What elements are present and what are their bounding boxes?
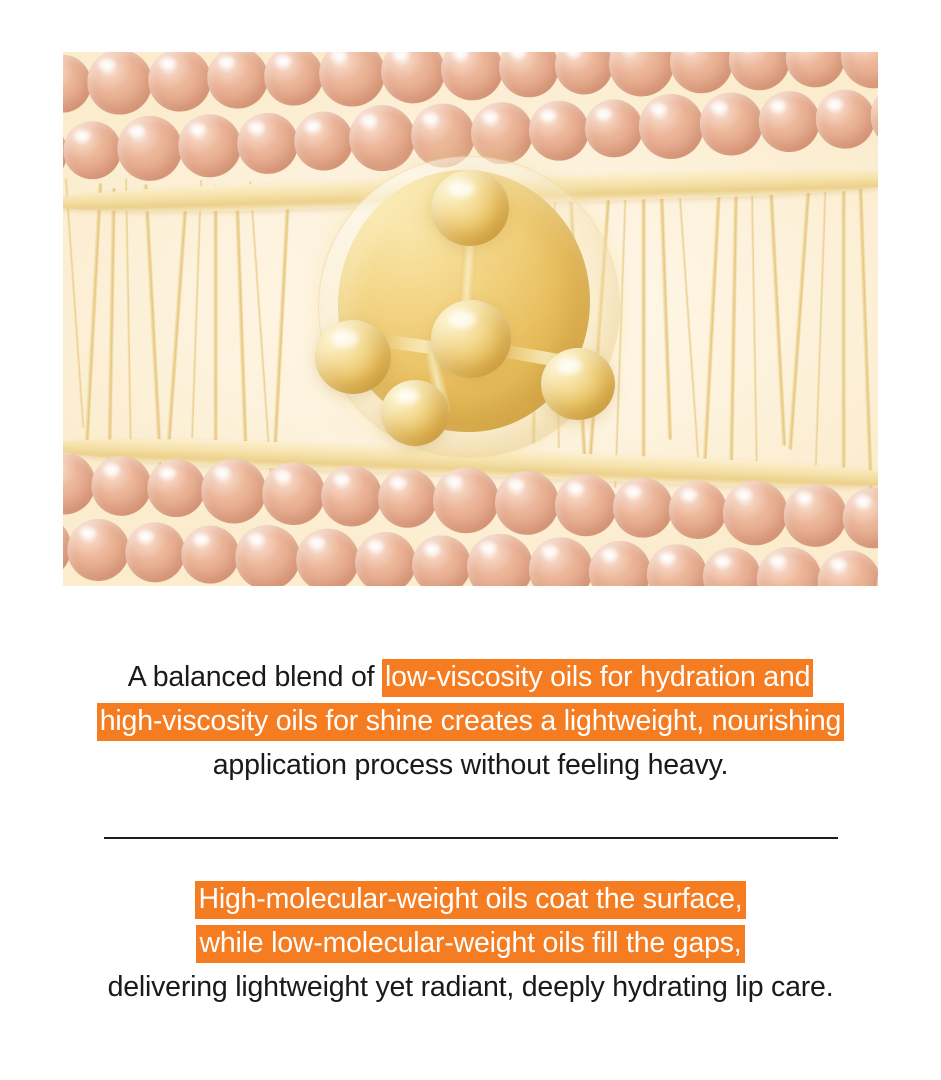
collagen-fiber bbox=[213, 185, 218, 456]
skin-cell-sphere bbox=[90, 455, 152, 517]
copy-top-line-3: application process without feeling heav… bbox=[0, 743, 941, 787]
skin-cell-sphere bbox=[698, 91, 764, 157]
skin-cell-sphere bbox=[646, 543, 708, 586]
copy-top-line-2-highlight: high-viscosity oils for shine creates a … bbox=[97, 703, 844, 741]
skin-cell-sphere bbox=[869, 82, 878, 151]
skin-cell-sphere bbox=[124, 521, 186, 583]
skin-cell-sphere bbox=[612, 476, 674, 538]
skin-cell-sphere bbox=[234, 523, 302, 586]
skin-cell-sphere bbox=[86, 52, 153, 115]
molecule-sphere-left bbox=[315, 320, 391, 394]
skin-cell-sphere bbox=[180, 524, 240, 584]
copy-top-line-1-highlight: low-viscosity oils for hydration and bbox=[382, 659, 813, 697]
copy-bottom-line-2-highlight: while low-molecular-weight oils fill the… bbox=[196, 925, 744, 963]
skin-cell-sphere bbox=[177, 113, 243, 179]
skin-cell-sphere bbox=[584, 98, 644, 158]
lower-cell-layer bbox=[63, 454, 878, 586]
skin-cell-sphere bbox=[348, 104, 417, 173]
skin-cell-sphere bbox=[411, 534, 472, 586]
skin-cell-sphere bbox=[147, 52, 212, 112]
skin-cell-sphere bbox=[588, 540, 653, 586]
copy-bottom-line-2: while low-molecular-weight oils fill the… bbox=[0, 921, 941, 965]
copy-top-line-1-plain: A balanced blend of bbox=[128, 661, 382, 693]
skin-cell-sphere bbox=[755, 545, 823, 586]
skin-cell-sphere bbox=[146, 458, 206, 518]
skin-cell-sphere bbox=[66, 518, 131, 583]
skin-cell-sphere bbox=[757, 89, 821, 153]
skin-cell-sphere bbox=[814, 88, 875, 149]
copy-bottom-line-3: delivering lightweight yet radiant, deep… bbox=[0, 965, 941, 1009]
hero-image bbox=[63, 52, 878, 586]
copy-bottom-line-1-highlight: High-molecular-weight oils coat the surf… bbox=[195, 881, 745, 919]
molecule-sphere-top bbox=[431, 170, 509, 246]
skin-cell-sphere bbox=[295, 527, 361, 586]
skin-cell-sphere bbox=[528, 536, 595, 586]
copy-bottom-line-1: High-molecular-weight oils coat the surf… bbox=[0, 877, 941, 921]
hero-illustration-canvas bbox=[63, 52, 878, 586]
skin-cell-sphere bbox=[293, 110, 354, 171]
skin-cell-sphere bbox=[354, 530, 418, 586]
skin-cell-sphere bbox=[263, 52, 324, 106]
skin-cell-sphere bbox=[637, 92, 705, 160]
copy-bottom-line-3-plain: delivering lightweight yet radiant, deep… bbox=[108, 971, 834, 1003]
molecule-sphere-bottom bbox=[381, 380, 449, 446]
copy-block-bottom: High-molecular-weight oils coat the surf… bbox=[0, 877, 941, 1009]
molecule-sphere-center bbox=[431, 300, 511, 378]
skin-cell-sphere bbox=[816, 549, 878, 586]
section-divider bbox=[104, 837, 838, 839]
copy-top-line-3-plain: application process without feeling heav… bbox=[213, 749, 728, 781]
collagen-fiber bbox=[841, 191, 846, 486]
skin-cell-sphere bbox=[528, 99, 590, 161]
copy-top-line-1: A balanced blend of low-viscosity oils f… bbox=[0, 655, 941, 699]
copy-block-top: A balanced blend of low-viscosity oils f… bbox=[0, 655, 941, 787]
skin-cell-sphere bbox=[466, 532, 535, 586]
skin-cell-sphere bbox=[377, 467, 438, 528]
skin-cell-sphere bbox=[236, 111, 300, 175]
copy-top-line-2: high-viscosity oils for shine creates a … bbox=[0, 699, 941, 743]
skin-cell-sphere bbox=[668, 480, 728, 540]
skin-cell-sphere bbox=[702, 546, 762, 586]
skin-cell-sphere bbox=[206, 52, 269, 109]
molecule-sphere-right bbox=[541, 348, 615, 420]
skin-cell-sphere bbox=[63, 120, 123, 180]
skin-cell-sphere bbox=[116, 114, 184, 182]
